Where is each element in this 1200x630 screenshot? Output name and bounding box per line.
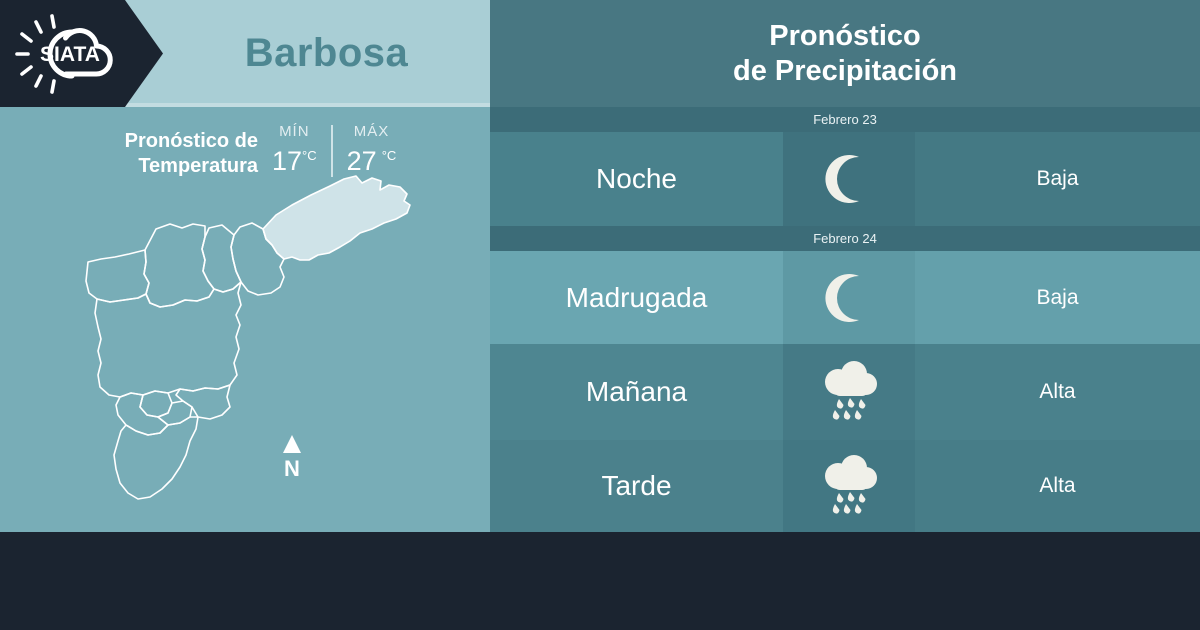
min-label: MÍN	[279, 123, 310, 141]
compass-label: N	[284, 456, 300, 479]
min-unit: °C	[302, 148, 317, 163]
siata-logo-flag: SIATA	[0, 0, 163, 107]
city-title-band: SIATA Barbosa	[0, 0, 490, 107]
forecast-row-tarde[interactable]: Tarde	[490, 440, 1200, 532]
map-region-envigado	[176, 385, 230, 419]
map-region-bello	[144, 224, 214, 307]
date-band-feb-24: Febrero 24	[490, 226, 1200, 251]
weather-icon-cell	[783, 251, 915, 344]
period-label: Mañana	[586, 376, 687, 408]
precipitation-level-cell: Baja	[915, 251, 1200, 344]
max-unit: °C	[382, 148, 397, 163]
period-cell: Mañana	[490, 344, 783, 440]
period-label: Tarde	[601, 470, 671, 502]
date-band-feb-23: Febrero 23	[490, 107, 1200, 132]
rain-icon	[814, 454, 884, 518]
page-title: Barbosa	[163, 0, 490, 107]
moon-icon	[817, 149, 881, 209]
forecast-row-madrugada[interactable]: Madrugada Baja	[490, 251, 1200, 344]
date-label: Febrero 24	[813, 231, 877, 246]
date-label: Febrero 23	[813, 112, 877, 127]
footer: @siatamedellin www.siata.gov.co Con el a…	[0, 532, 1200, 630]
map-region-corridor	[95, 282, 241, 397]
left-panel: SIATA Barbosa Pronóstico de Temperatura …	[0, 0, 490, 532]
precipitation-title-line1: Pronóstico	[769, 19, 920, 54]
map-svg	[0, 167, 490, 532]
map-region-caldas	[114, 417, 198, 499]
level-label: Alta	[1039, 474, 1075, 498]
municipality-map	[0, 167, 490, 532]
precipitation-title: Pronóstico de Precipitación	[490, 0, 1200, 107]
weather-icon-cell	[783, 132, 915, 226]
precipitation-panel: Pronóstico de Precipitación Febrero 23 N…	[490, 0, 1200, 532]
forecast-row-manana[interactable]: Mañana	[490, 344, 1200, 440]
precipitation-level-cell: Alta	[915, 344, 1200, 440]
period-cell: Tarde	[490, 440, 783, 532]
level-label: Alta	[1039, 380, 1075, 404]
level-label: Baja	[1036, 286, 1078, 310]
period-cell: Noche	[490, 132, 783, 226]
map-panel: Pronóstico de Temperatura MÍN 17°C MÁX 2…	[0, 107, 490, 532]
weather-icon-cell	[783, 440, 915, 532]
weather-forecast-card: SIATA Barbosa Pronóstico de Temperatura …	[0, 0, 1200, 630]
period-cell: Madrugada	[490, 251, 783, 344]
precipitation-level-cell: Alta	[915, 440, 1200, 532]
rain-icon	[814, 360, 884, 424]
siata-logo-text: SIATA	[40, 43, 100, 66]
siata-logo-icon: SIATA	[14, 12, 126, 96]
period-label: Madrugada	[566, 282, 708, 314]
compass-north-icon: N	[276, 433, 308, 479]
level-label: Baja	[1036, 167, 1078, 191]
temperature-title-line1: Pronóstico de	[125, 130, 258, 152]
precipitation-level-cell: Baja	[915, 132, 1200, 226]
map-region-northwest	[86, 250, 149, 302]
map-region-barbosa	[263, 176, 410, 260]
max-label: MÁX	[354, 123, 390, 141]
forecast-row-noche[interactable]: Noche Baja	[490, 132, 1200, 226]
period-label: Noche	[596, 163, 677, 195]
moon-icon	[817, 268, 881, 328]
precipitation-title-line2: de Precipitación	[733, 54, 957, 89]
weather-icon-cell	[783, 344, 915, 440]
